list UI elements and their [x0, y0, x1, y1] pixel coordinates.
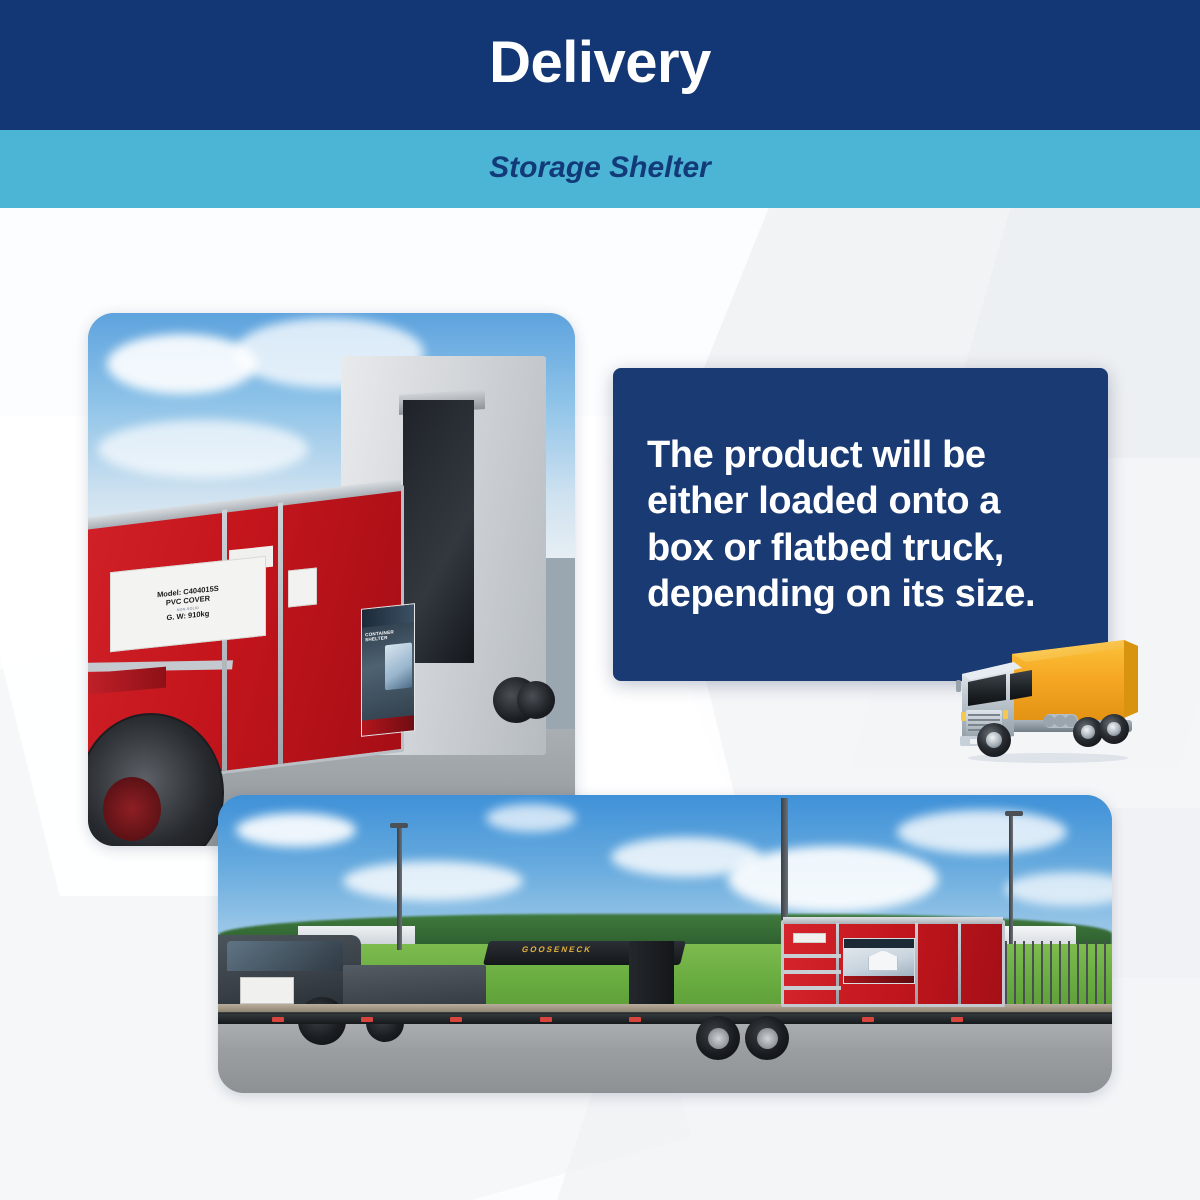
trailer-marker-light: [540, 1017, 552, 1022]
crate-stripe: [784, 970, 841, 974]
header-band: Delivery: [0, 0, 1200, 130]
trailer-marker-light: [951, 1017, 963, 1022]
fence: [987, 941, 1112, 1007]
trailer-marker-light: [629, 1017, 641, 1022]
photo-crate-loaded-into-box-truck: Model: C404015S PVC COVER NON-SOLID G. W…: [88, 313, 575, 846]
gooseneck-drop: [629, 941, 674, 1007]
asphalt-road: [218, 1016, 1112, 1093]
crate-divider: [836, 923, 839, 1003]
page-subtitle: Storage Shelter: [489, 153, 711, 183]
poster-header: [844, 939, 914, 948]
cloud: [236, 813, 356, 847]
crate-stripe: [784, 986, 841, 990]
poster-image: [384, 642, 411, 690]
pole-lamp: [1005, 811, 1023, 816]
trailer-marker-light: [862, 1017, 874, 1022]
poster-title: CONTAINER SHELTER: [365, 627, 413, 644]
crate-divider: [915, 923, 918, 1003]
crate-top-rail: [783, 917, 1003, 924]
trailer-marker-light: [361, 1017, 373, 1022]
pickup-door-placard: [240, 977, 294, 1004]
delivery-truck-icon: [948, 632, 1140, 766]
flatbed-side-rail: [218, 1014, 1112, 1024]
photo-crate-on-flatbed-trailer: GOOSENECK: [218, 795, 1112, 1093]
crate-label-weight: G. W: 910kg: [166, 609, 209, 622]
forklift-wheel-rim: [103, 777, 161, 841]
crate-divider: [958, 923, 961, 1003]
shelter-product-poster: [843, 938, 915, 985]
crate-divider: [278, 502, 283, 763]
page-title: Delivery: [489, 34, 711, 92]
cloud: [486, 804, 576, 832]
truck-shadow: [968, 753, 1128, 763]
cloud: [897, 810, 1067, 854]
pickup-truck-window: [227, 941, 343, 971]
light-pole: [1009, 813, 1013, 944]
crate-spec-label: Model: C404015S PVC COVER NON-SOLID G. W…: [110, 555, 266, 651]
crate-stripe: [784, 954, 841, 958]
subheader-band: Storage Shelter: [0, 130, 1200, 208]
cloud: [98, 420, 308, 478]
truck-wheel: [517, 681, 555, 719]
cloud: [343, 861, 523, 901]
crate-spec-label: [793, 933, 826, 943]
red-shelter-crate: [781, 920, 1005, 1006]
trailer-marker-light: [272, 1017, 284, 1022]
pole-lamp: [390, 823, 408, 828]
container-shelter-poster: CONTAINER SHELTER: [361, 603, 415, 737]
poster-shelter-illustration: [868, 950, 899, 971]
poster-header: [362, 604, 414, 627]
wheel-hub: [757, 1028, 778, 1049]
callout-text: The product will be either loaded onto a…: [647, 432, 1074, 617]
cloud: [728, 846, 938, 912]
delivery-slide: Delivery Storage Shelter: [0, 0, 1200, 1200]
wheel-hub: [708, 1028, 729, 1049]
poster-footer: [844, 976, 914, 983]
crate-document-pouch: [288, 567, 317, 607]
trailer-brand-text: GOOSENECK: [521, 945, 593, 954]
light-pole: [397, 825, 402, 950]
trailer-marker-light: [450, 1017, 462, 1022]
